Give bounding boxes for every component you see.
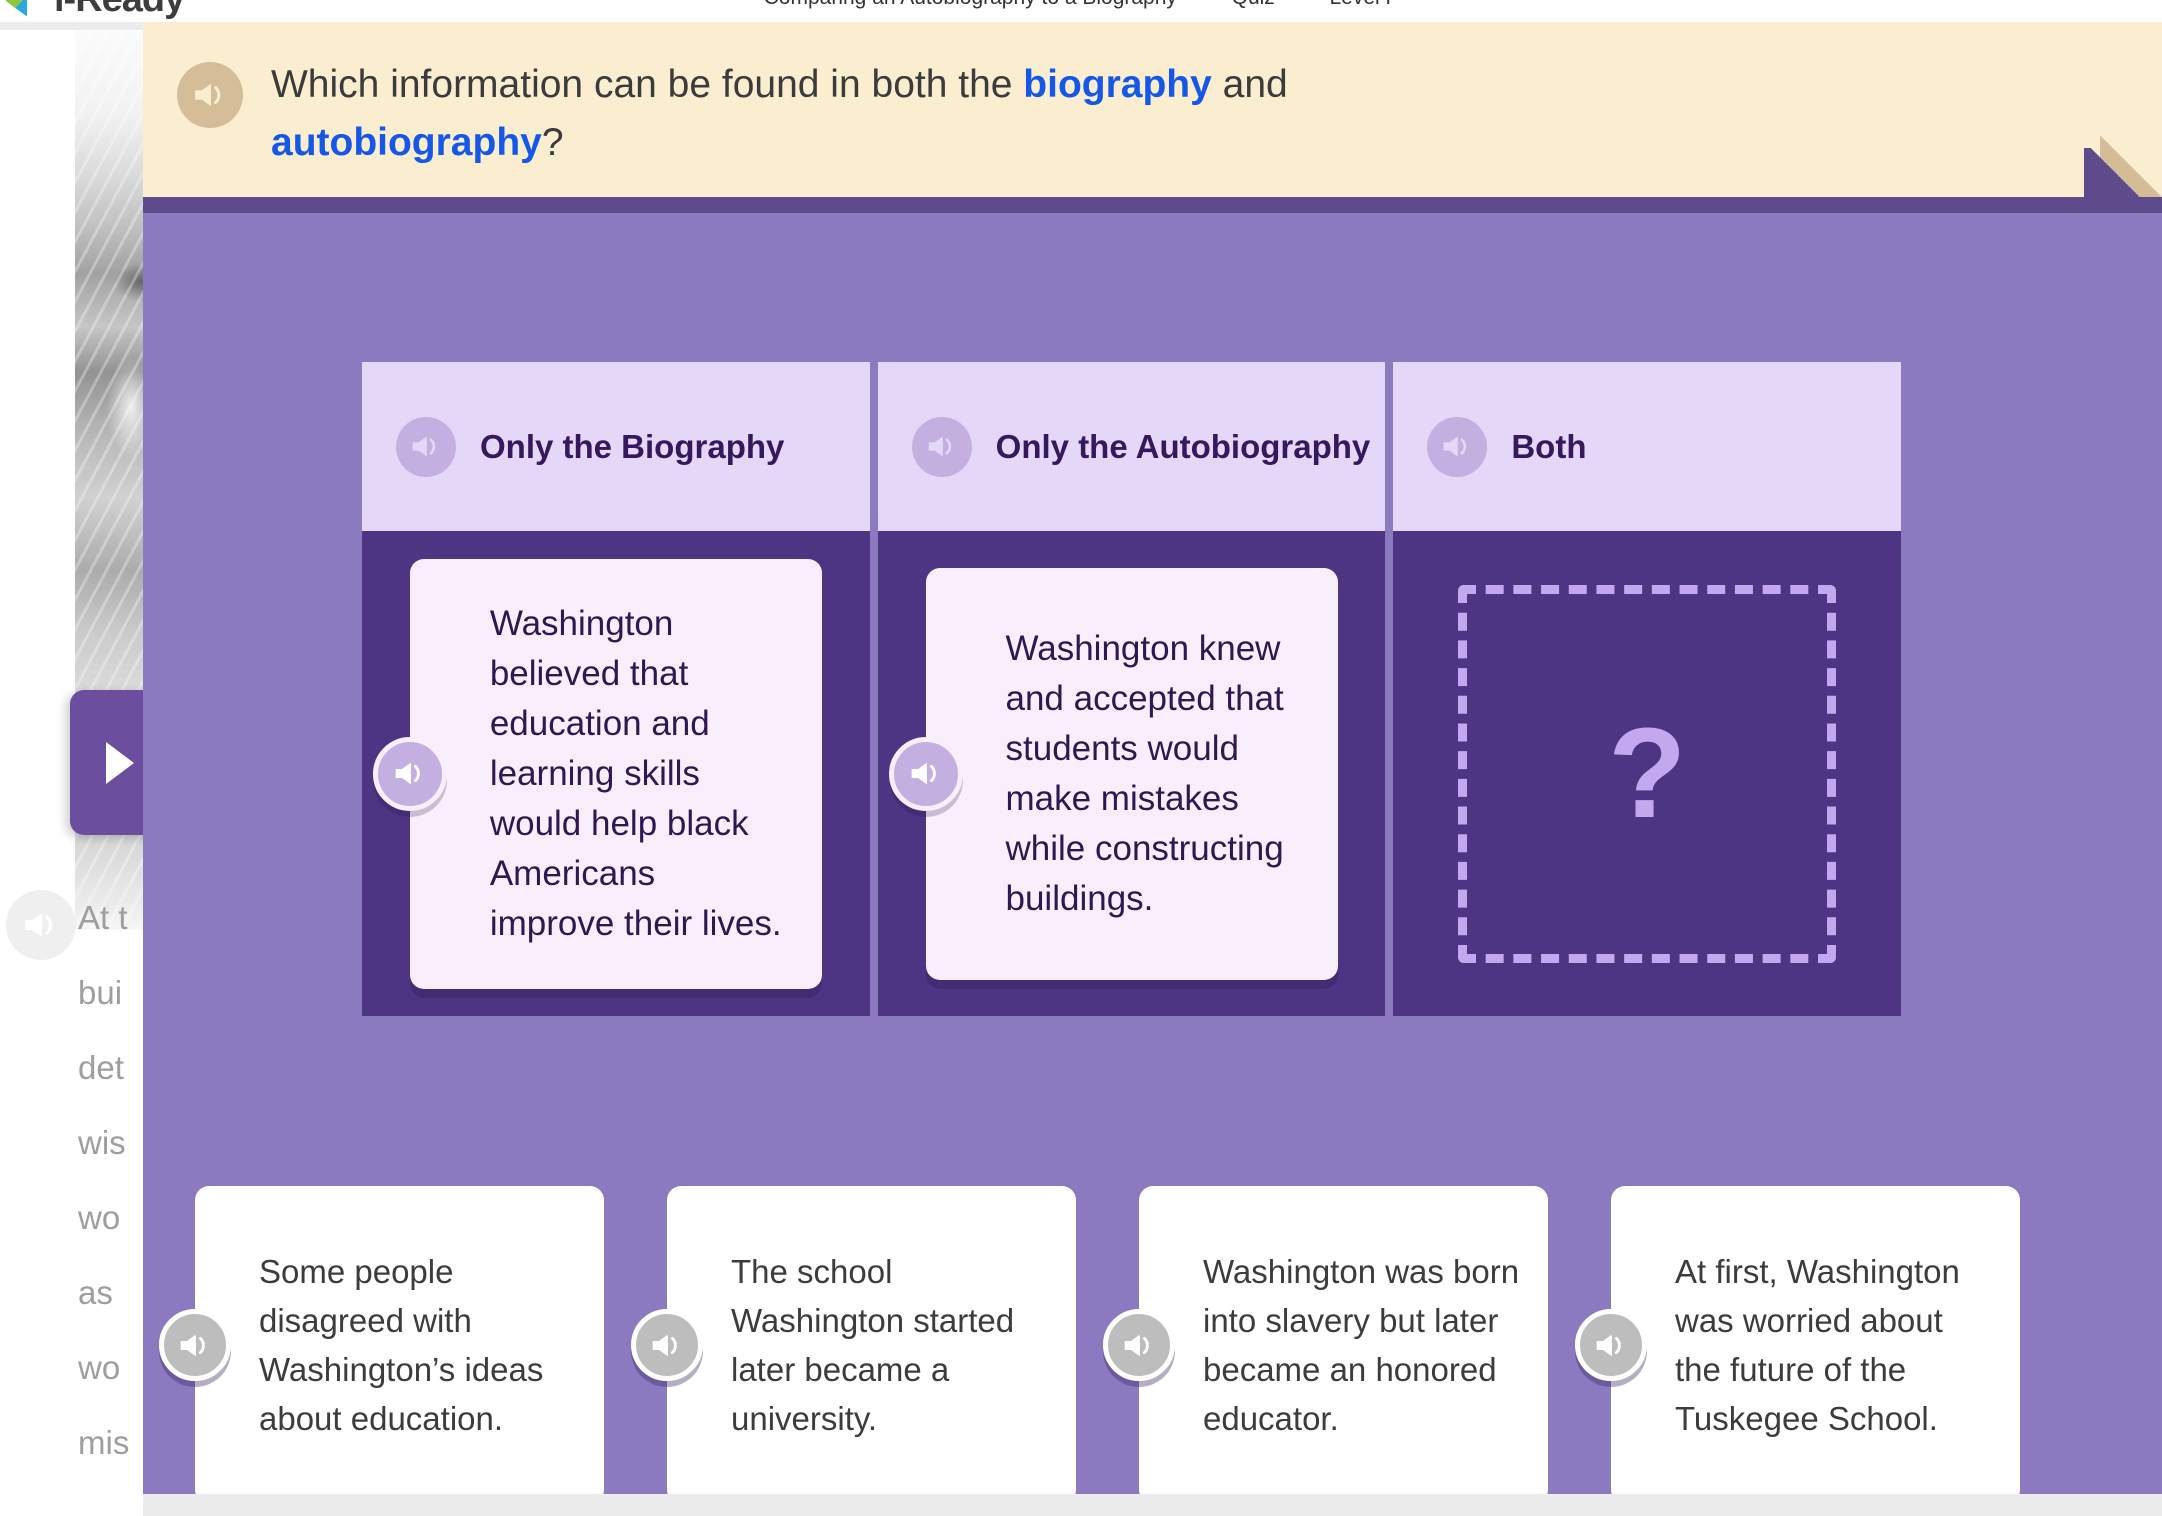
question-banner: Which information can be found in both t… <box>143 22 2162 197</box>
placed-answer-card[interactable]: Washington knew and accepted that studen… <box>926 568 1338 980</box>
breadcrumb-lesson: Comparing an Autobiography to a Biograph… <box>764 0 1177 9</box>
answer-card[interactable]: At first, Washington was worried about t… <box>1611 1186 2020 1494</box>
category-header-only-the-autobiography: Only the Autobiography <box>878 362 1386 531</box>
footer-left-gap <box>0 1494 143 1516</box>
drop-slot-only-the-autobiography[interactable]: Washington knew and accepted that studen… <box>878 531 1386 1016</box>
question-keyword-autobiography: autobiography <box>271 121 542 164</box>
answer-card-text: Washington was born into slavery but lat… <box>1203 1247 1522 1443</box>
answer-card-list: Some people disagreed with Washington’s … <box>195 1186 2075 1494</box>
sorting-drop-area: Only the Biography Washington believed t… <box>143 213 2162 1155</box>
app-header: i-Ready Comparing an Autobiography to a … <box>0 0 2162 22</box>
speaker-icon[interactable] <box>1103 1309 1175 1381</box>
passage-speaker-icon[interactable] <box>6 890 76 960</box>
speaker-icon[interactable] <box>1575 1309 1647 1381</box>
category-columns: Only the Biography Washington believed t… <box>362 362 1901 1016</box>
speaker-icon[interactable] <box>889 737 963 811</box>
question-text: Which information can be found in both t… <box>271 56 1421 172</box>
question-prefix: Which information can be found in both t… <box>271 63 1023 106</box>
iready-logo-icon <box>6 0 48 17</box>
breadcrumb: Comparing an Autobiography to a Biograph… <box>764 0 1399 10</box>
banner-drop-shadow <box>143 197 2162 213</box>
play-triangle-icon <box>106 742 134 784</box>
quiz-activity-modal: Which information can be found in both t… <box>143 22 2162 1494</box>
category-column-both: Both ? <box>1393 362 1901 1016</box>
placed-answer-text: Washington believed that education and l… <box>490 599 788 949</box>
breadcrumb-separator-1: · <box>1183 0 1226 9</box>
breadcrumb-activity: Quiz <box>1232 0 1275 9</box>
speaker-icon[interactable] <box>373 737 447 811</box>
answer-card[interactable]: Washington was born into slavery but lat… <box>1139 1186 1548 1494</box>
answer-card-text: The school Washington started later beca… <box>731 1247 1050 1443</box>
breadcrumb-level: Level F <box>1329 0 1398 9</box>
category-label: Only the Biography <box>480 423 784 471</box>
speaker-icon[interactable] <box>1427 417 1487 477</box>
answer-card[interactable]: Some people disagreed with Washington’s … <box>195 1186 604 1494</box>
speaker-icon[interactable] <box>631 1309 703 1381</box>
category-column-only-the-autobiography: Only the Autobiography Washington knew a… <box>878 362 1386 1016</box>
breadcrumb-separator-2: · <box>1281 0 1324 9</box>
speaker-icon[interactable] <box>159 1309 231 1381</box>
answer-card-text: Some people disagreed with Washington’s … <box>259 1247 578 1443</box>
answer-card-text: At first, Washington was worried about t… <box>1675 1247 1994 1443</box>
question-speaker-icon[interactable] <box>177 62 243 128</box>
question-middle: and <box>1212 63 1288 106</box>
category-column-only-the-biography: Only the Biography Washington believed t… <box>362 362 870 1016</box>
footer-divider <box>143 1494 2162 1516</box>
app-logo: i-Ready <box>6 0 184 21</box>
drop-slot-both[interactable]: ? <box>1393 531 1901 1016</box>
speaker-icon[interactable] <box>396 417 456 477</box>
category-header-both: Both <box>1393 362 1901 531</box>
question-suffix: ? <box>542 121 564 164</box>
empty-drop-slot[interactable]: ? <box>1458 585 1836 963</box>
placed-answer-text: Washington knew and accepted that studen… <box>1006 624 1304 924</box>
category-label: Both <box>1511 423 1586 471</box>
question-keyword-biography: biography <box>1023 63 1212 106</box>
app-logo-text: i-Ready <box>54 0 184 21</box>
speaker-icon[interactable] <box>912 417 972 477</box>
answer-card-tray: Some people disagreed with Washington’s … <box>143 1155 2162 1494</box>
answer-card[interactable]: The school Washington started later beca… <box>667 1186 1076 1494</box>
category-header-only-the-biography: Only the Biography <box>362 362 870 531</box>
drop-slot-only-the-biography[interactable]: Washington believed that education and l… <box>362 531 870 1016</box>
category-label: Only the Autobiography <box>996 423 1371 471</box>
placed-answer-card[interactable]: Washington believed that education and l… <box>410 559 822 989</box>
question-mark-placeholder: ? <box>1608 710 1686 838</box>
